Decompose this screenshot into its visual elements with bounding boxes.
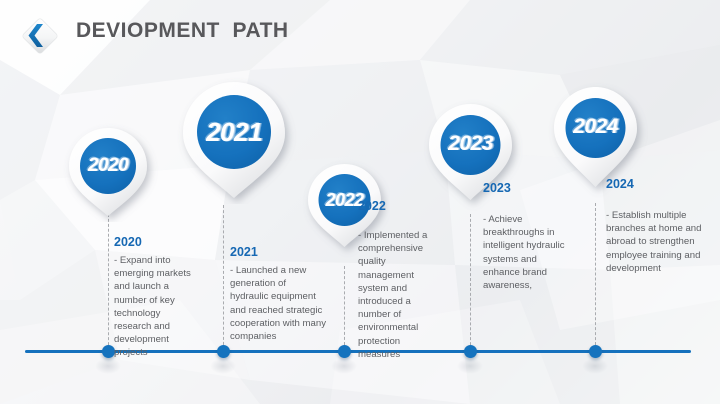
- milestone-year-label-2021: 2021: [230, 245, 326, 259]
- timeline-dot-shadow: [210, 358, 236, 374]
- milestone-text-2021: 2021 - Launched a new generation of hydr…: [230, 245, 326, 343]
- timeline-dot-2024[interactable]: [589, 345, 602, 358]
- connector-line-2023: [470, 214, 471, 350]
- connector-line-2022: [344, 266, 345, 350]
- timeline-dot-shadow: [457, 358, 483, 374]
- timeline-dot-shadow: [331, 358, 357, 374]
- slide-header: DEVIOPMENT PATH: [0, 0, 720, 66]
- timeline-dot-shadow: [95, 358, 121, 374]
- milestone-description-2020: - Expand into emerging markets and launc…: [114, 254, 197, 360]
- timeline-dot-2022[interactable]: [338, 345, 351, 358]
- connector-line-2020: [108, 214, 109, 350]
- milestone-description-2024: - Establish multiple branches at home an…: [606, 209, 704, 275]
- milestone-text-2024: 2024 - Establish multiple branches at ho…: [606, 177, 704, 275]
- milestone-text-2020: 2020 - Expand into emerging markets and …: [114, 235, 197, 360]
- milestone-year-label-2022: 2022: [358, 199, 442, 213]
- milestone-description-2021: - Launched a new generation of hydraulic…: [230, 264, 326, 343]
- milestone-year-label-2020: 2020: [114, 235, 197, 249]
- timeline-dot-2021[interactable]: [217, 345, 230, 358]
- chevron-left-diamond-logo-icon: [17, 13, 63, 59]
- milestone-pin-2020[interactable]: 2020: [57, 122, 159, 222]
- milestone-text-2022: 2022 - Implemented a comprehensive quali…: [358, 199, 442, 361]
- slide-canvas: DEVIOPMENT PATH: [0, 0, 720, 404]
- connector-line-2024: [595, 203, 596, 350]
- milestone-year-label-2024: 2024: [606, 177, 704, 191]
- milestone-pin-2021[interactable]: 2021: [170, 76, 298, 204]
- milestone-text-2023: 2023 - Achieve breakthroughs in intellig…: [483, 181, 573, 292]
- page-title: DEVIOPMENT PATH: [76, 19, 289, 43]
- milestone-description-2023: - Achieve breakthroughs in intelligent h…: [483, 213, 573, 292]
- milestone-description-2022: - Implemented a comprehensive quality ma…: [358, 229, 442, 361]
- timeline-dot-shadow: [582, 358, 608, 374]
- milestone-year-label-2023: 2023: [483, 181, 573, 195]
- timeline-dot-2023[interactable]: [464, 345, 477, 358]
- connector-line-2021: [223, 205, 224, 350]
